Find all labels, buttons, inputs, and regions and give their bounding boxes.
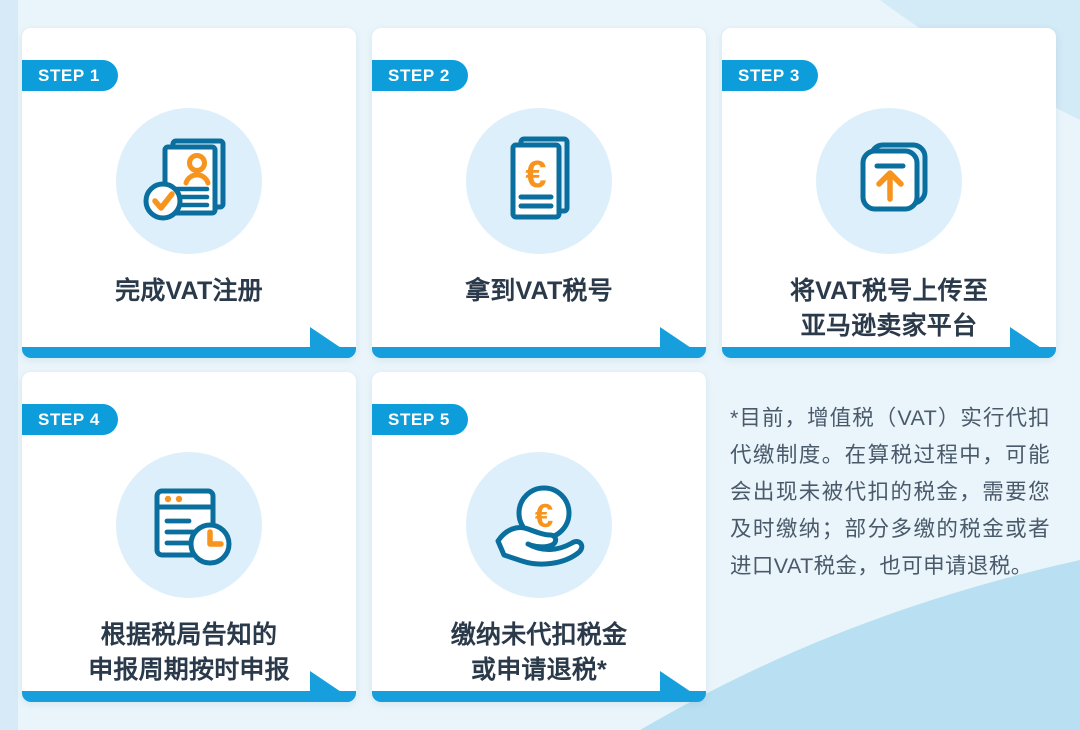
documents-person-check-icon [137, 129, 241, 233]
step-badge-3: STEP 3 [722, 60, 818, 91]
icon-disc: € [466, 108, 612, 254]
icon-disc: € [466, 452, 612, 598]
card-bottom-bar [22, 347, 356, 358]
upload-cards-arrow-icon [839, 131, 939, 231]
icon-disc [116, 108, 262, 254]
icon-disc [816, 108, 962, 254]
step-card-4[interactable]: STEP 4 根据税局告知的申报周期按时申报 [22, 372, 356, 702]
step-badge-5: STEP 5 [372, 404, 468, 435]
step-card-3[interactable]: STEP 3 将VAT税号上传至亚马逊卖家平台 [722, 28, 1056, 358]
step-card-5[interactable]: STEP 5 € 缴纳未代扣税金或申请退税* [372, 372, 706, 702]
step-icon-container-1 [22, 106, 356, 256]
card-bottom-bar [722, 347, 1056, 358]
card-corner-tail [310, 327, 356, 358]
step-card-2[interactable]: STEP 2 € 拿到VAT税号 [372, 28, 706, 358]
documents-euro-icon: € [489, 129, 589, 233]
step-title-2: 拿到VAT税号 [386, 274, 692, 309]
icon-disc [116, 452, 262, 598]
step-title-1: 完成VAT注册 [36, 274, 342, 309]
step-icon-container-2: € [372, 106, 706, 256]
svg-text:€: € [535, 497, 553, 534]
card-bottom-bar [372, 347, 706, 358]
card-bottom-bar [372, 691, 706, 702]
step-title-4: 根据税局告知的申报周期按时申报 [36, 618, 342, 687]
svg-text:€: € [525, 154, 546, 196]
step-icon-container-3 [722, 106, 1056, 256]
step-icon-container-5: € [372, 450, 706, 600]
step-card-1[interactable]: STEP 1 [22, 28, 356, 358]
window-clock-icon [137, 475, 241, 575]
step-title-5: 缴纳未代扣税金或申请退税* [386, 618, 692, 687]
step-badge-4: STEP 4 [22, 404, 118, 435]
step-icon-container-4 [22, 450, 356, 600]
hand-euro-coin-icon: € [486, 477, 592, 573]
step-title-3: 将VAT税号上传至亚马逊卖家平台 [736, 274, 1042, 343]
card-corner-tail [660, 327, 706, 358]
footnote-text: *目前，增值税（VAT）实行代扣代缴制度。在算税过程中，可能会出现未被代扣的税金… [722, 372, 1056, 702]
card-bottom-bar [22, 691, 356, 702]
step-badge-1: STEP 1 [22, 60, 118, 91]
step-badge-2: STEP 2 [372, 60, 468, 91]
steps-board: STEP 1 [0, 0, 1080, 730]
